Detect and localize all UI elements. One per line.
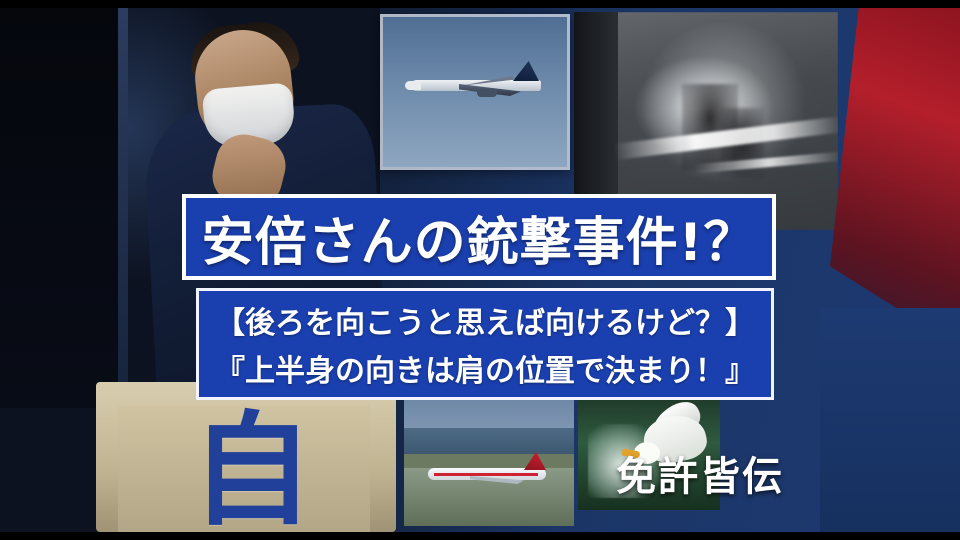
video-thumbnail: 自 bbox=[0, 0, 960, 540]
panel-airliner-in-sky bbox=[380, 14, 570, 170]
red-stripe bbox=[434, 473, 538, 476]
letterbox-bar-top bbox=[0, 0, 960, 8]
podium-kanji: 自 bbox=[186, 412, 318, 532]
subtitle-line-1: 【後ろを向こうと思えば向けるけど？】 bbox=[215, 298, 755, 342]
red-corner-wedge bbox=[830, 8, 960, 348]
nose bbox=[405, 81, 421, 90]
background-composite: 自 bbox=[0, 8, 960, 532]
government-plane-icon bbox=[428, 460, 546, 486]
dark-background-strip bbox=[0, 8, 118, 408]
corner-caption: 免許皆伝 bbox=[616, 444, 784, 502]
letterbox-bar-bottom bbox=[0, 532, 960, 540]
panel-airport-plane bbox=[404, 398, 574, 526]
airport-water bbox=[404, 428, 574, 454]
subtitle-banner: 【後ろを向こうと思えば向けるけど？】 『上半身の向きは肩の位置で決まり！』 bbox=[196, 288, 774, 400]
subtitle-line-2: 『上半身の向きは肩の位置で決まり！』 bbox=[215, 346, 755, 390]
airplane-icon bbox=[411, 75, 541, 93]
engine bbox=[477, 89, 497, 97]
wall-edge bbox=[118, 8, 128, 408]
blue-block-right bbox=[820, 308, 960, 532]
main-title-text: 安倍さんの銃撃事件!？ bbox=[202, 200, 757, 275]
main-title-banner: 安倍さんの銃撃事件!？ bbox=[182, 194, 776, 280]
